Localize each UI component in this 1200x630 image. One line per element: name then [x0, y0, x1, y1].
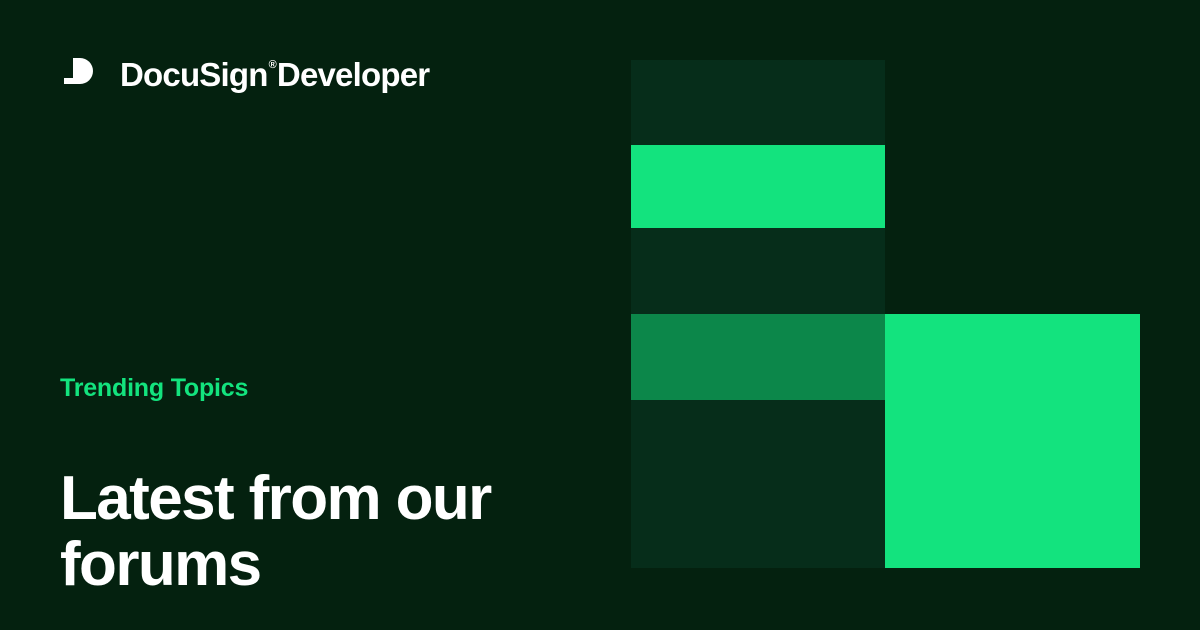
- artwork-bar-4: [631, 314, 885, 400]
- artwork-bar-3: [631, 228, 885, 314]
- eyebrow-label: Trending Topics: [60, 375, 248, 403]
- artwork-accent-square: [885, 314, 1140, 568]
- artwork-bar-2: [631, 145, 885, 228]
- artwork-bar-5: [631, 400, 885, 568]
- brand-name-secondary: Developer: [277, 58, 429, 91]
- page-title: Latest from our forums: [60, 466, 580, 600]
- docusign-d-logo-mark: [60, 52, 104, 96]
- brand-lockup: DocuSign ® Developer: [60, 52, 429, 96]
- registered-trademark-icon: ®: [269, 60, 276, 71]
- artwork-bar-1: [631, 60, 885, 145]
- brand-wordmark: DocuSign ® Developer: [120, 58, 429, 91]
- decorative-artwork: [631, 60, 1140, 568]
- social-card-canvas: DocuSign ® Developer Trending Topics Lat…: [0, 0, 1200, 630]
- artwork-bar-column: [631, 60, 885, 568]
- brand-name-primary: DocuSign: [120, 58, 268, 91]
